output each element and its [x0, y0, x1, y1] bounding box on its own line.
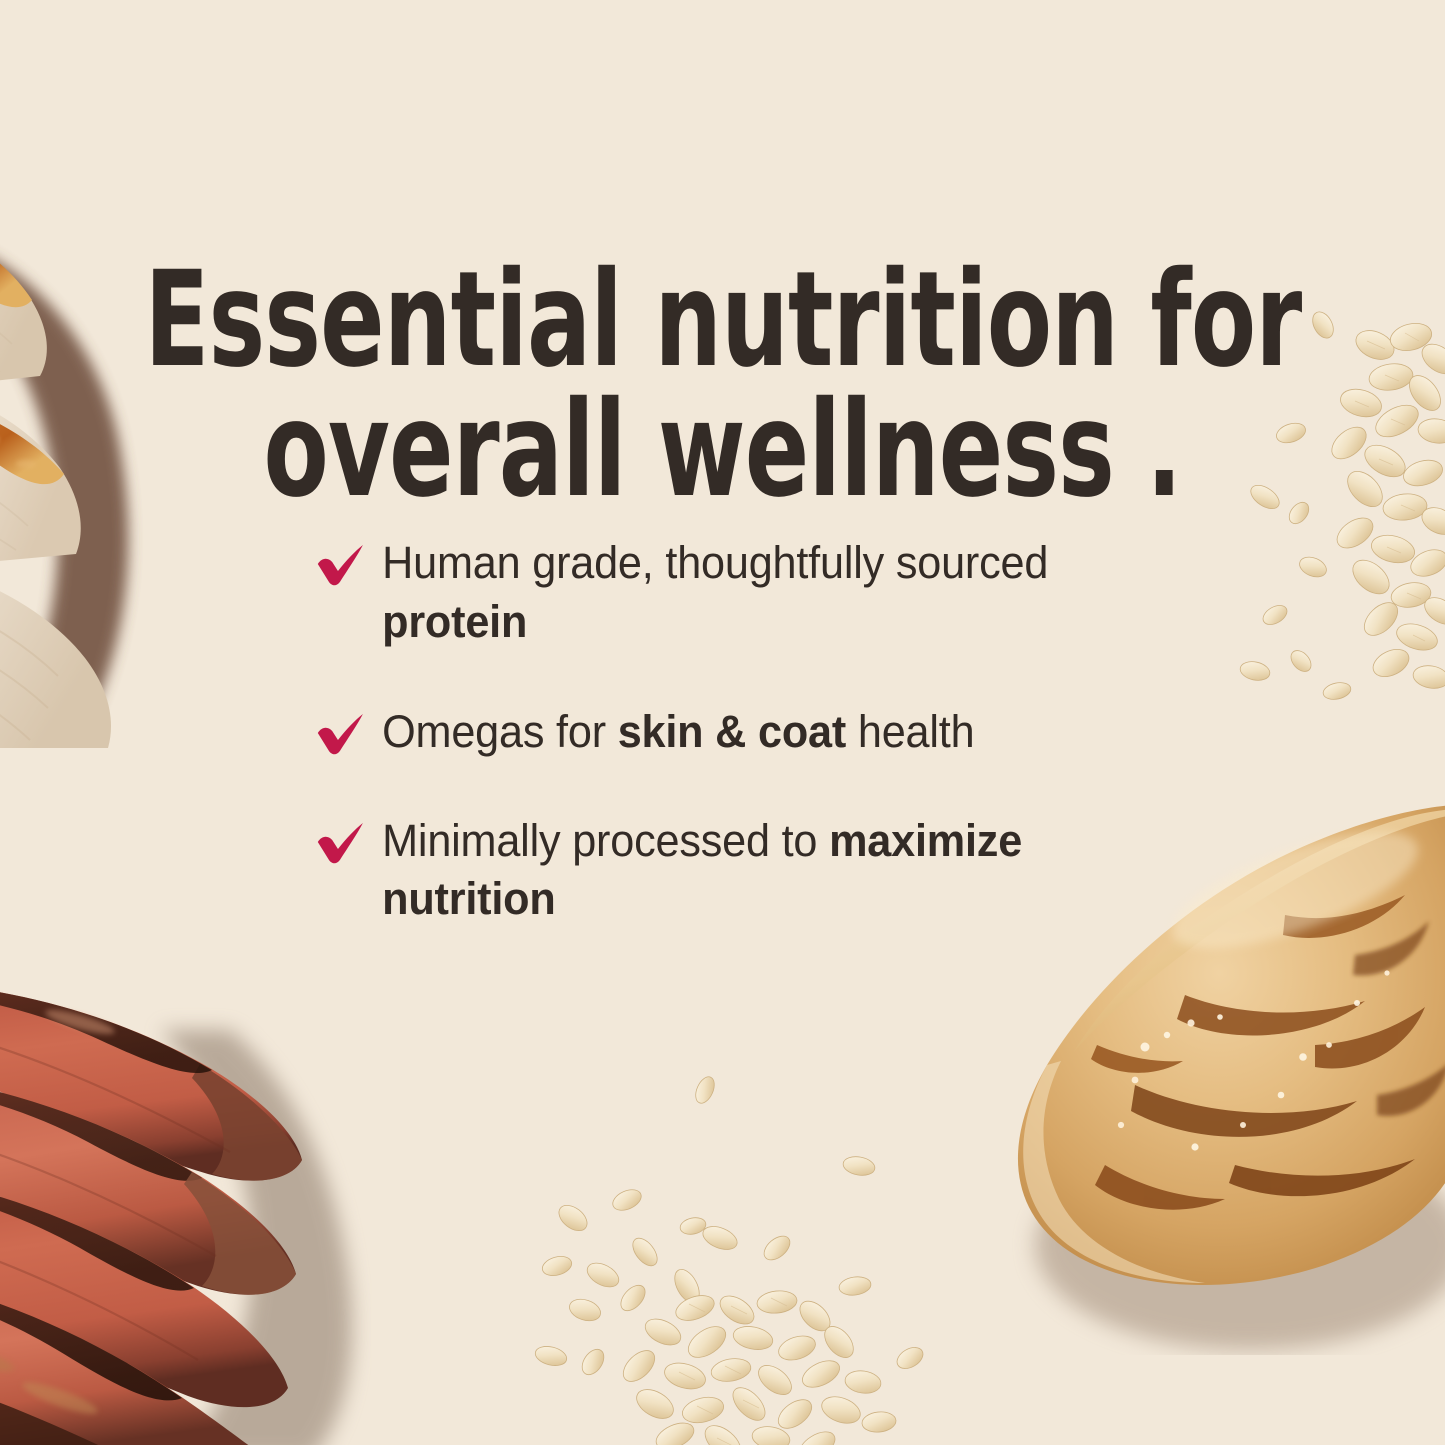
sliced-steak-photo [0, 960, 430, 1445]
page-title: Essential nutrition for overall wellness… [145, 256, 1301, 515]
check-icon [315, 820, 367, 866]
list-item: Minimally processed to maximize nutritio… [313, 812, 1139, 929]
check-icon [315, 542, 367, 588]
headline-line-1: Essential nutrition for [145, 256, 1301, 385]
list-item: Human grade, thoughtfully sourced protei… [313, 534, 1139, 651]
benefits-list: Human grade, thoughtfully sourced protei… [313, 534, 1173, 929]
list-item-text: Minimally processed to maximize nutritio… [382, 815, 1022, 925]
check-icon [315, 711, 367, 757]
list-item: Omegas for skin & coat health [313, 703, 1139, 762]
promo-image: Essential nutrition for overall wellness… [0, 0, 1445, 1445]
rolled-oats-photo [515, 1070, 935, 1445]
list-item-text: Omegas for skin & coat health [382, 706, 974, 757]
list-item-text: Human grade, thoughtfully sourced protei… [382, 537, 1048, 647]
headline-line-2: overall wellness . [145, 386, 1301, 515]
